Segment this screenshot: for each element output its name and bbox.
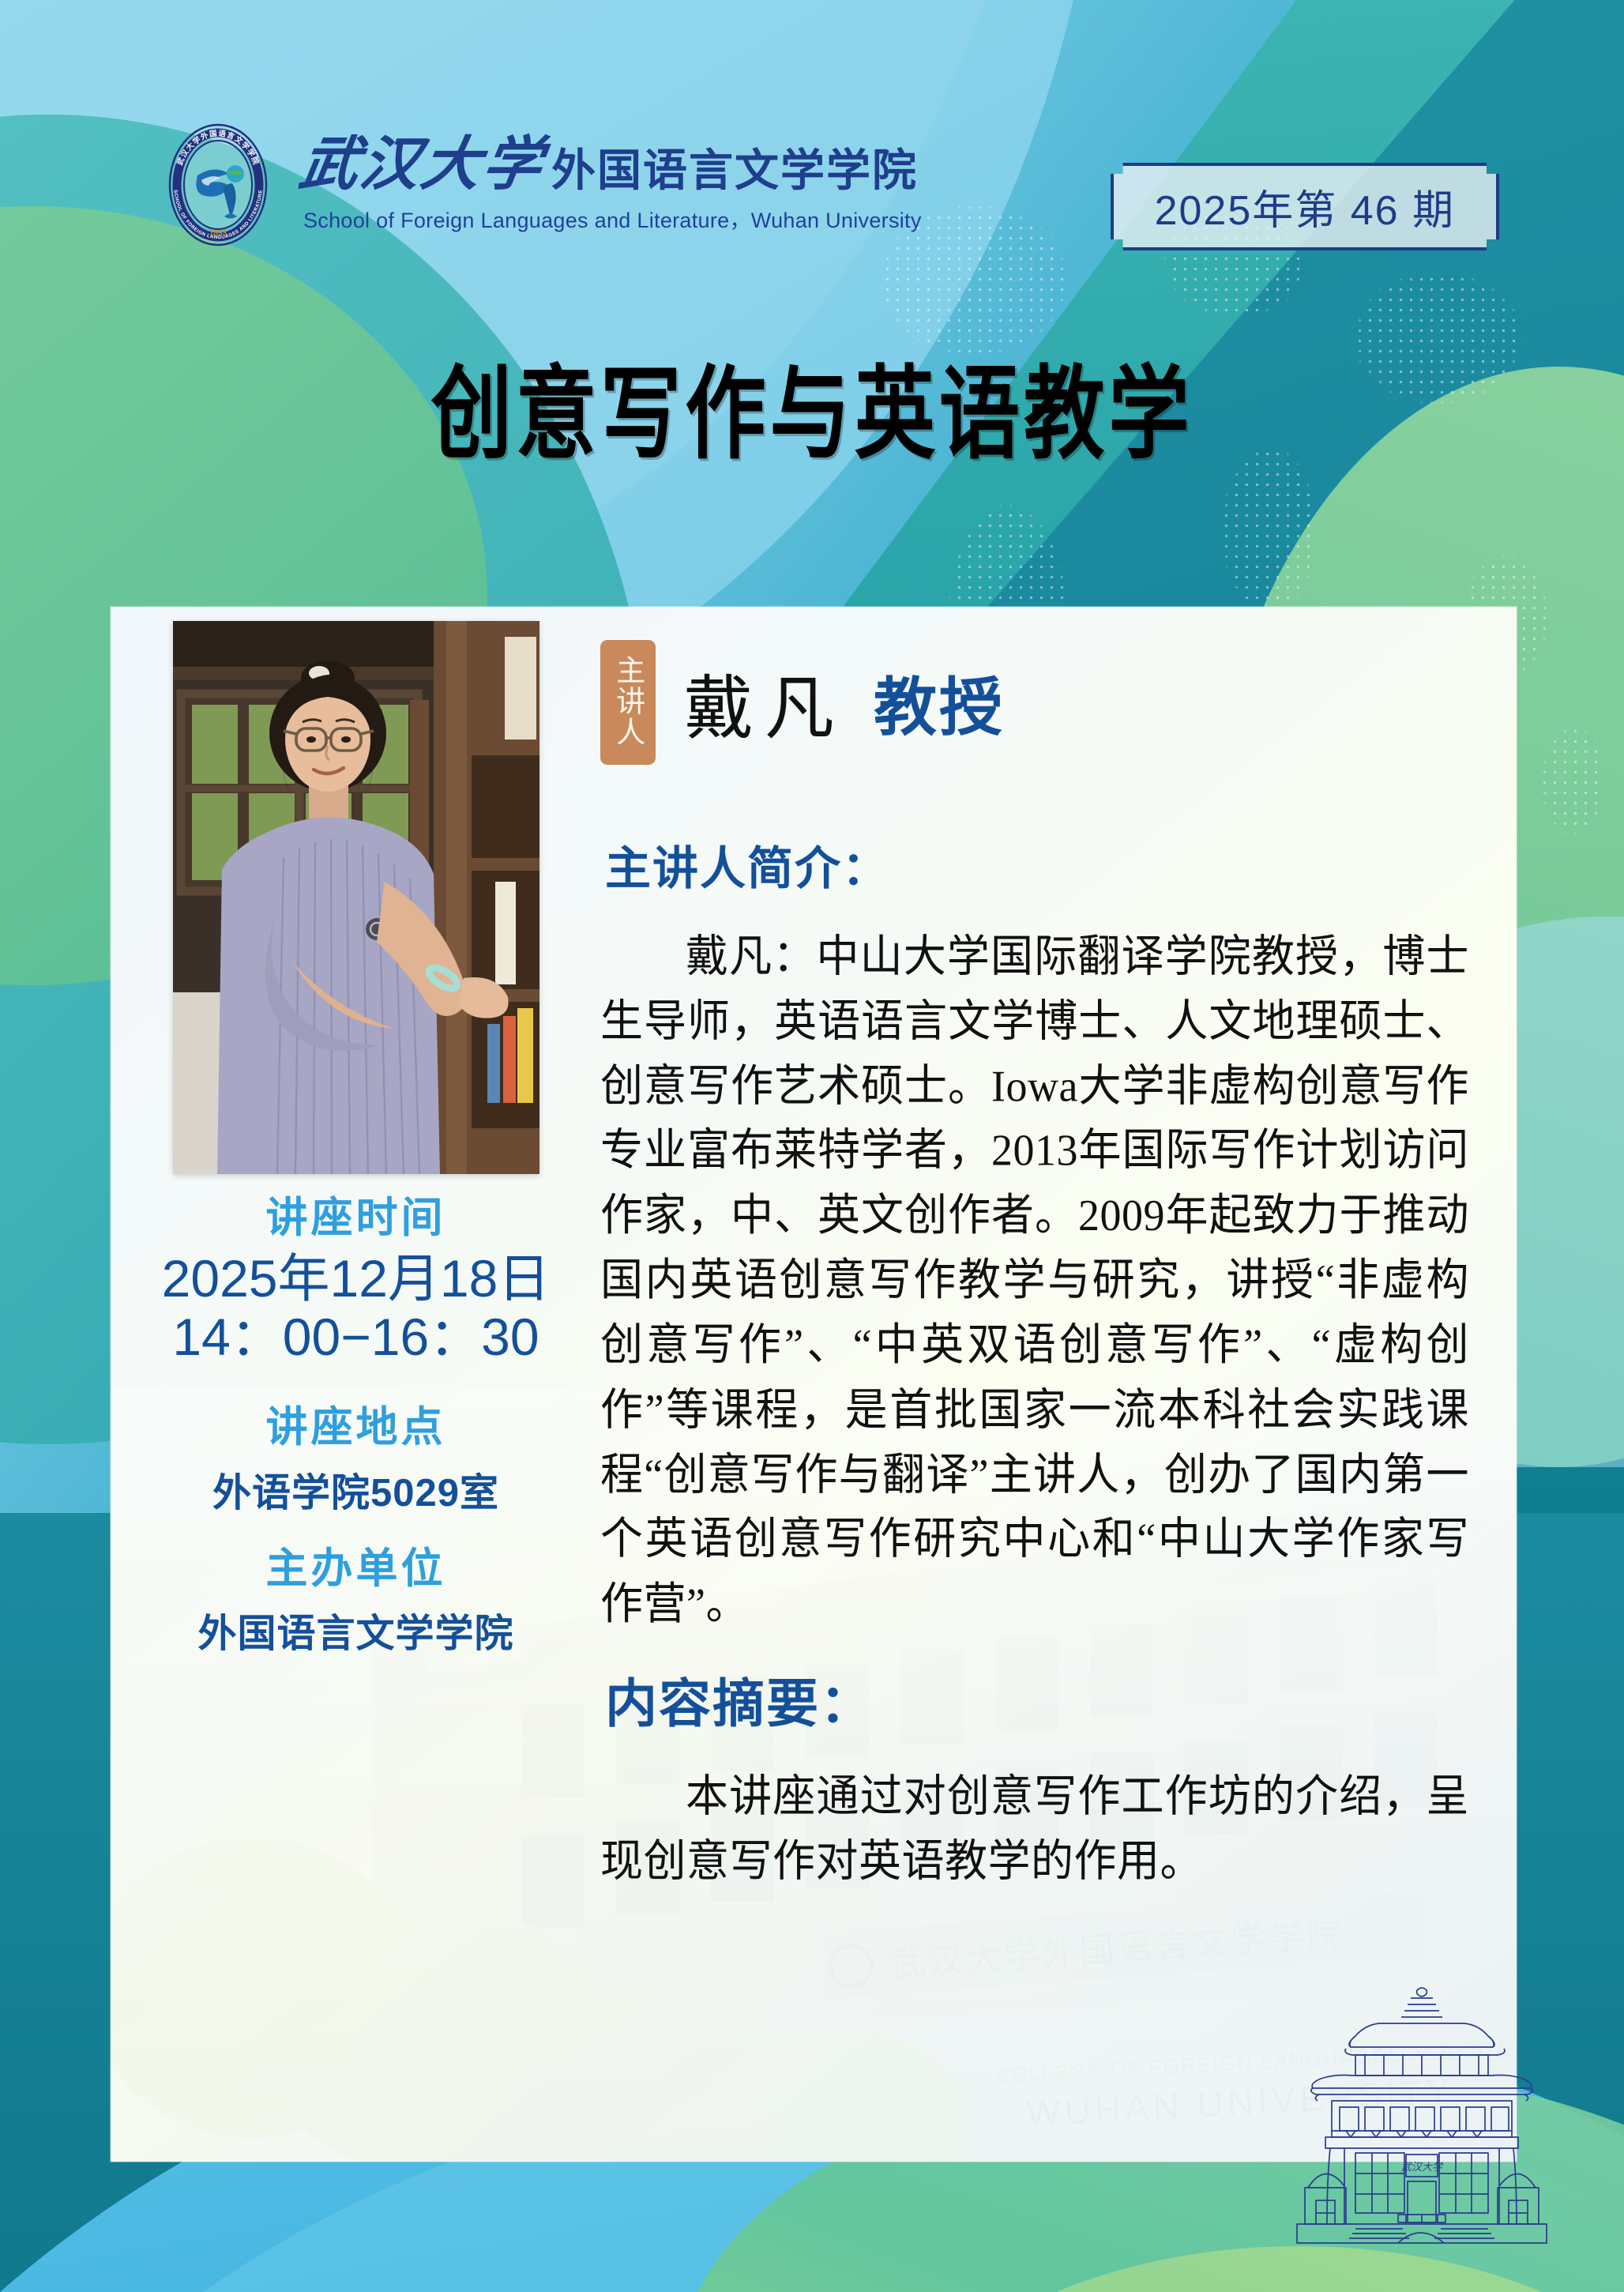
speaker-portrait-photo	[173, 621, 539, 1174]
lecture-poster: 武汉大学外国语言文学学院 SCHOOL OF FOREIGN LANGUAGES…	[0, 0, 1624, 2292]
organizer-label: 主办单位	[141, 1544, 571, 1594]
speaker-line: 主讲人 戴凡 教授	[600, 640, 1469, 765]
bio-text: 戴凡：中山大学国际翻译学院教授，博士生导师，英语语言文学博士、人文地理硕士、创意…	[600, 924, 1469, 1637]
whu-sfl-seal-icon: 武汉大学外国语言文学学院 SCHOOL OF FOREIGN LANGUAGES…	[158, 115, 278, 254]
left-info-column: 讲座时间 2025年12月18日 14：00−16：30 讲座地点 外语学院50…	[141, 621, 571, 1658]
speaker-rank: 教授	[874, 657, 1005, 748]
issue-badge: 2025年第 46 期	[1111, 163, 1499, 250]
bio-heading: 主讲人简介：	[605, 831, 1469, 898]
lecture-time-value: 14：00−16：30	[141, 1308, 571, 1367]
brand-script-wuhan-university: 武汉大学	[295, 136, 548, 194]
poster-header: 武汉大学外国语言文学学院 SCHOOL OF FOREIGN LANGUAGES…	[158, 115, 922, 254]
speaker-name: 戴凡	[684, 653, 845, 753]
svg-text:1893: 1893	[209, 229, 227, 238]
brand-school-name-cn: 外国语言文学学院	[551, 148, 918, 194]
lecture-date-value: 2025年12月18日	[141, 1250, 571, 1308]
organizer-value: 外国语言文学学院	[141, 1611, 571, 1658]
old-library-plaque-text: 武汉大学	[1401, 2161, 1444, 2173]
lecture-venue-label: 讲座地点	[141, 1402, 571, 1453]
brand-school-name-en: School of Foreign Languages and Literatu…	[303, 203, 922, 234]
lecture-venue-value: 外语学院5029室	[141, 1470, 571, 1517]
poster-title: 创意写作与英语教学	[163, 332, 1462, 478]
right-content-column: 主讲人 戴凡 教授 主讲人简介： 戴凡：中山大学国际翻译学院教授，博士生导师，英…	[600, 640, 1469, 1889]
speaker-tag: 主讲人	[600, 640, 656, 765]
abstract-text: 本讲座通过对创意写作工作坊的介绍，呈现创意写作对英语教学的作用。	[600, 1764, 1469, 1894]
whu-old-library-line-art-icon: 武汉大学	[1273, 1984, 1570, 2248]
brand-block: 武汉大学 外国语言文学学院 School of Foreign Language…	[300, 136, 922, 234]
lecture-time-label: 讲座时间	[141, 1193, 571, 1244]
abstract-heading: 内容摘要：	[605, 1662, 1469, 1737]
